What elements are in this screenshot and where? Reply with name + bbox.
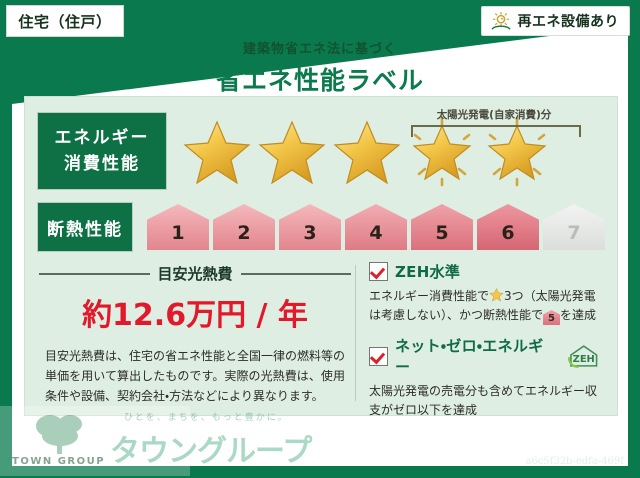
evaluation-date-label: 評価日 [473, 436, 514, 452]
energy-label-line1: エネルギー [55, 125, 150, 151]
estimated-utility-cost-block: 目安光熱費 約12.6万円 / 年 目安光熱費は、住宅の省エネ性能と全国一律の燃… [39, 263, 351, 406]
check-icon-netzero [369, 347, 388, 366]
insulation-chip-7-value: 7 [567, 222, 580, 244]
panel-vertical-divider [355, 265, 356, 401]
insulation-performance-row: 断熱性能 1 2 3 4 [37, 201, 605, 253]
insulation-chip-5: 5 [411, 204, 473, 250]
zeh-standard-block: ZEH水準 エネルギー消費性能で 3つ（太陽光発電は考慮しない）、かつ断熱性能で… [369, 261, 605, 325]
renewable-badge-label: 再エネ設備あり [518, 11, 620, 31]
inline-chip-value: 5 [548, 313, 555, 324]
zeh-text-part1: エネルギー消費性能で [369, 289, 489, 303]
label-main-panel: エネルギー 消費性能 [24, 96, 618, 416]
insulation-chip-2-value: 2 [237, 222, 250, 244]
net-zero-head: ネット・ゼロ・エネルギー ZEH [369, 335, 605, 377]
inline-star-icon [489, 287, 504, 302]
cost-heading: 目安光熱費 [158, 263, 233, 284]
insulation-chip-6-value: 6 [501, 222, 514, 244]
insulation-performance-label: 断熱性能 [37, 202, 133, 252]
net-zero-text: 太陽光発電の売電分も含めてエネルギー収支がゼロ以下を達成 [369, 382, 605, 420]
insulation-chip-1: 1 [147, 204, 209, 250]
label-footer: 第三者評価BELS リトリート初台 Ａ住戸 評価日 2025年3月19日 a6c… [0, 416, 640, 478]
sun-icon [490, 11, 512, 31]
star-1 [181, 115, 253, 187]
cost-heading-row: 目安光熱費 [39, 263, 351, 284]
inline-insulation-chip: 5 [543, 310, 560, 325]
zeh-text-part3: を達成 [560, 308, 596, 322]
zeh-standard-head: ZEH水準 [369, 261, 605, 282]
insulation-chip-2: 2 [213, 204, 275, 250]
insulation-chip-4-value: 4 [369, 222, 382, 244]
insulation-chip-3: 3 [279, 204, 341, 250]
solar-bracket [411, 125, 581, 137]
net-zero-title: ネット・ゼロ・エネルギー [395, 335, 557, 377]
energy-performance-row: エネルギー 消費性能 [37, 109, 605, 193]
star-3 [331, 115, 403, 187]
energy-label-page: 住宅（住戸） 再エネ設備あり 建築物省エネ法に基づく 省エネ性能ラベル エネルギ… [0, 0, 640, 478]
check-icon-zeh [369, 262, 388, 281]
label-title: 建築物省エネ法に基づく 省エネ性能ラベル [0, 38, 640, 97]
zeh-standard-title: ZEH水準 [395, 261, 460, 282]
cost-rule-left [39, 273, 150, 275]
house-type-tag: 住宅（住戸） [6, 5, 124, 37]
insulation-chip-1-value: 1 [171, 222, 184, 244]
zeh-standard-text: エネルギー消費性能で 3つ（太陽光発電は考慮しない）、かつ断熱性能で5を達成 [369, 287, 605, 325]
evaluation-date: 評価日 2025年3月19日 [473, 432, 624, 452]
third-party-evaluation: 第三者評価BELS [22, 434, 167, 460]
title-main: 省エネ性能ラベル [0, 61, 640, 97]
evaluation-id: a6c5f32b-edfa-469f [525, 456, 624, 467]
energy-performance-label: エネルギー 消費性能 [37, 112, 167, 190]
energy-label-line2: 消費性能 [64, 151, 140, 177]
insulation-chip-6: 6 [477, 204, 539, 250]
bels-label: 第三者評価 [22, 438, 117, 459]
star-2 [256, 115, 328, 187]
solar-generation-note: 太陽光発電(自家消費)分 [399, 107, 589, 122]
insulation-chip-5-value: 5 [435, 222, 448, 244]
net-zero-energy-block: ネット・ゼロ・エネルギー ZEH 太陽光発電の売電分も含めてエネルギー収支がゼロ… [369, 335, 605, 420]
insulation-chip-7: 7 [543, 204, 605, 250]
evaluation-date-value: 2025年3月19日 [518, 436, 624, 452]
bels-mark: BELS [117, 438, 167, 459]
insulation-level-scale: 1 2 3 4 5 [147, 204, 605, 250]
renewable-equipment-badge: 再エネ設備あり [481, 6, 631, 36]
insulation-chip-4: 4 [345, 204, 407, 250]
cost-rule-right [241, 273, 352, 275]
zeh-logo-icon: ZEH [566, 343, 605, 369]
title-subtitle: 建築物省エネ法に基づく [0, 38, 640, 57]
cost-disclaimer: 目安光熱費は、住宅の省エネ性能と全国一律の燃料等の単価を用いて算出したものです。… [39, 346, 351, 406]
zeh-star-count: 3つ [504, 289, 524, 303]
cost-value: 約12.6万円 / 年 [39, 290, 351, 334]
property-name: リトリート初台 Ａ住戸 [205, 438, 359, 458]
svg-text:ZEH: ZEH [572, 354, 594, 365]
achievement-column: ZEH水準 エネルギー消費性能で 3つ（太陽光発電は考慮しない）、かつ断熱性能で… [369, 261, 605, 430]
insulation-chip-3-value: 3 [303, 222, 316, 244]
